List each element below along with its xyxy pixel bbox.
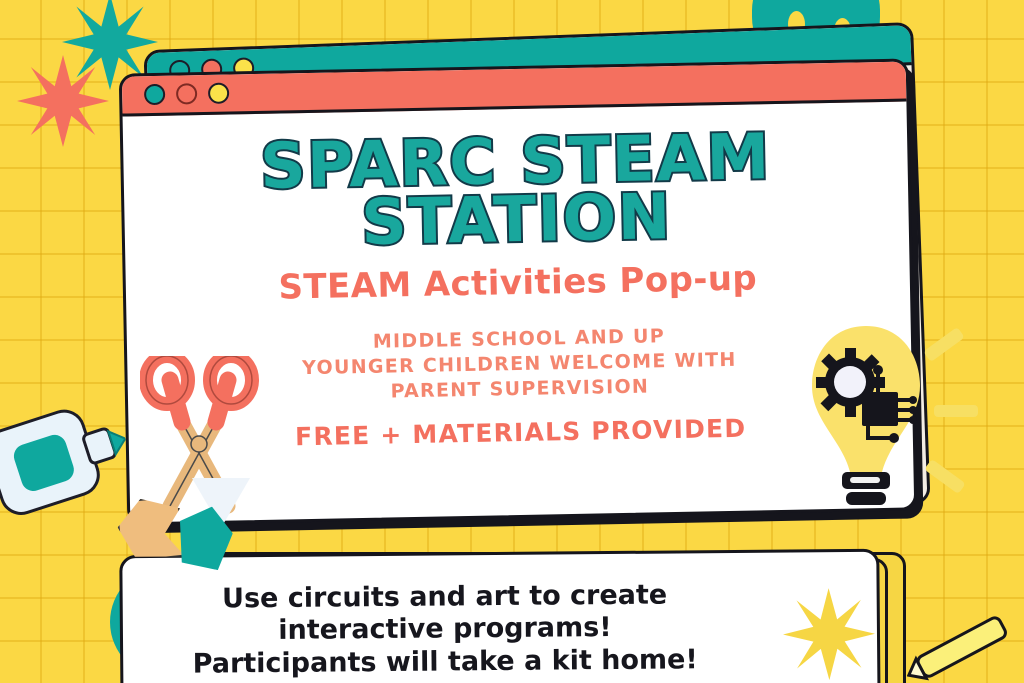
description-line: Participants will take a kit home!	[193, 644, 698, 679]
page-subtitle: STEAM Activities Pop-up	[152, 256, 885, 310]
window-dot-yellow[interactable]	[208, 83, 229, 104]
window-dot-coral[interactable]	[176, 83, 197, 104]
description-line: Use circuits and art to create	[222, 580, 667, 615]
description-line: interactive programs!	[278, 612, 612, 646]
title-line-2: STATION	[361, 180, 673, 259]
description-card: Use circuits and art to create interacti…	[119, 549, 880, 683]
lightbulb-ray	[934, 405, 978, 417]
description-text: Use circuits and art to create interacti…	[122, 552, 877, 682]
lightbulb-icon	[806, 320, 946, 535]
eligibility-details: MIDDLE SCHOOL AND UP YOUNGER CHILDREN WE…	[153, 320, 886, 409]
poster-canvas: SPARC STEAM STATION STEAM Activities Pop…	[0, 0, 1024, 683]
page-title: SPARC STEAM STATION	[149, 126, 883, 256]
window-dot-teal[interactable]	[144, 84, 165, 105]
free-materials-note: FREE + MATERIALS PROVIDED	[154, 411, 886, 454]
scissors-icon	[140, 356, 260, 526]
